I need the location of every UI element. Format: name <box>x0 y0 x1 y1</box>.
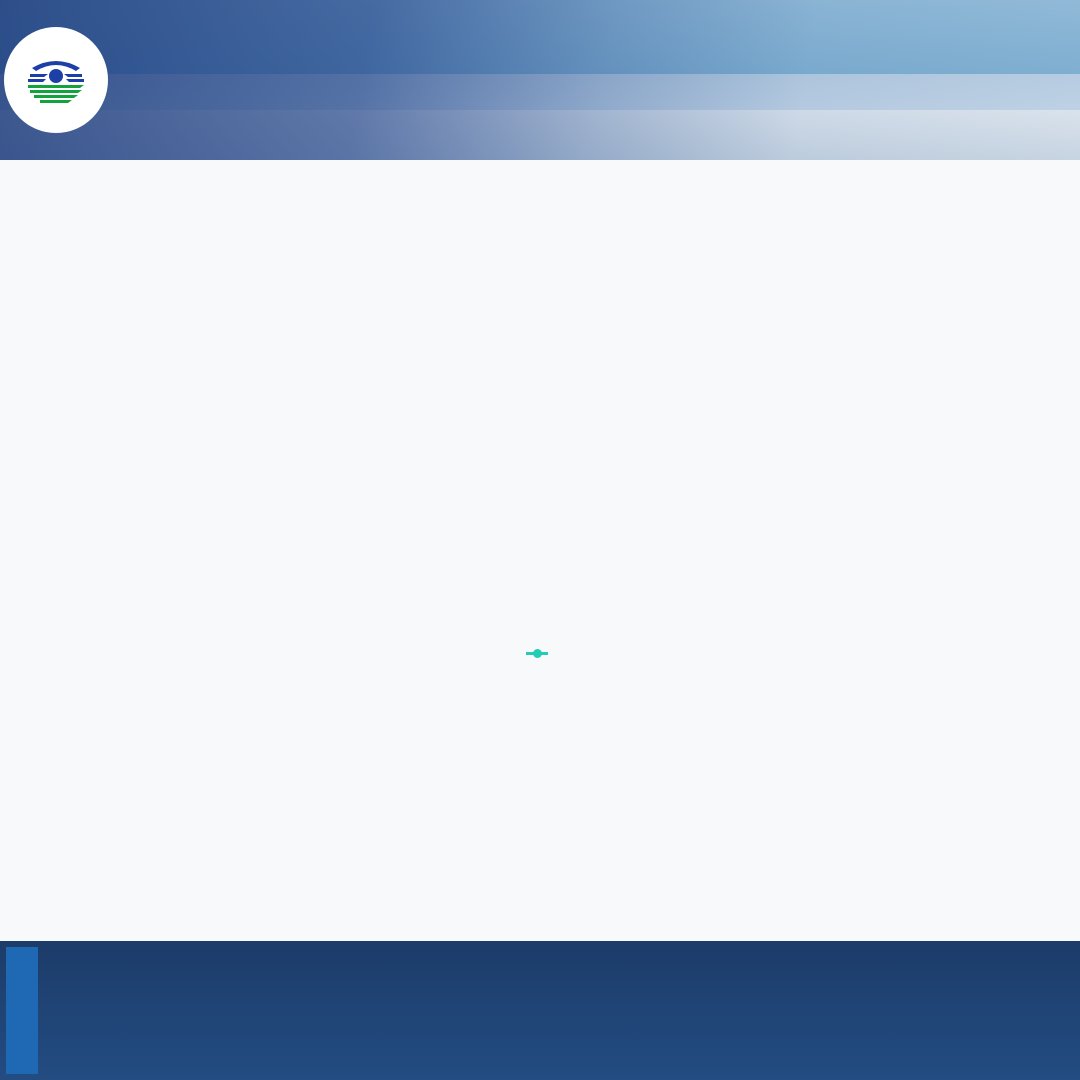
title-block <box>0 168 1080 198</box>
chart-legend <box>31 652 1049 655</box>
legend-bar <box>0 941 1080 1080</box>
header-blue-overlay <box>0 0 1080 160</box>
bmkg-logo-icon <box>20 52 92 108</box>
legend-side-tab <box>6 947 38 1074</box>
validity-period <box>0 179 1080 198</box>
page-header <box>0 0 1080 160</box>
chart-plot-area <box>93 564 1039 630</box>
bmkg-logo <box>4 27 108 133</box>
sst-chart <box>31 558 1049 678</box>
chart-legend-marker-icon <box>526 652 548 655</box>
